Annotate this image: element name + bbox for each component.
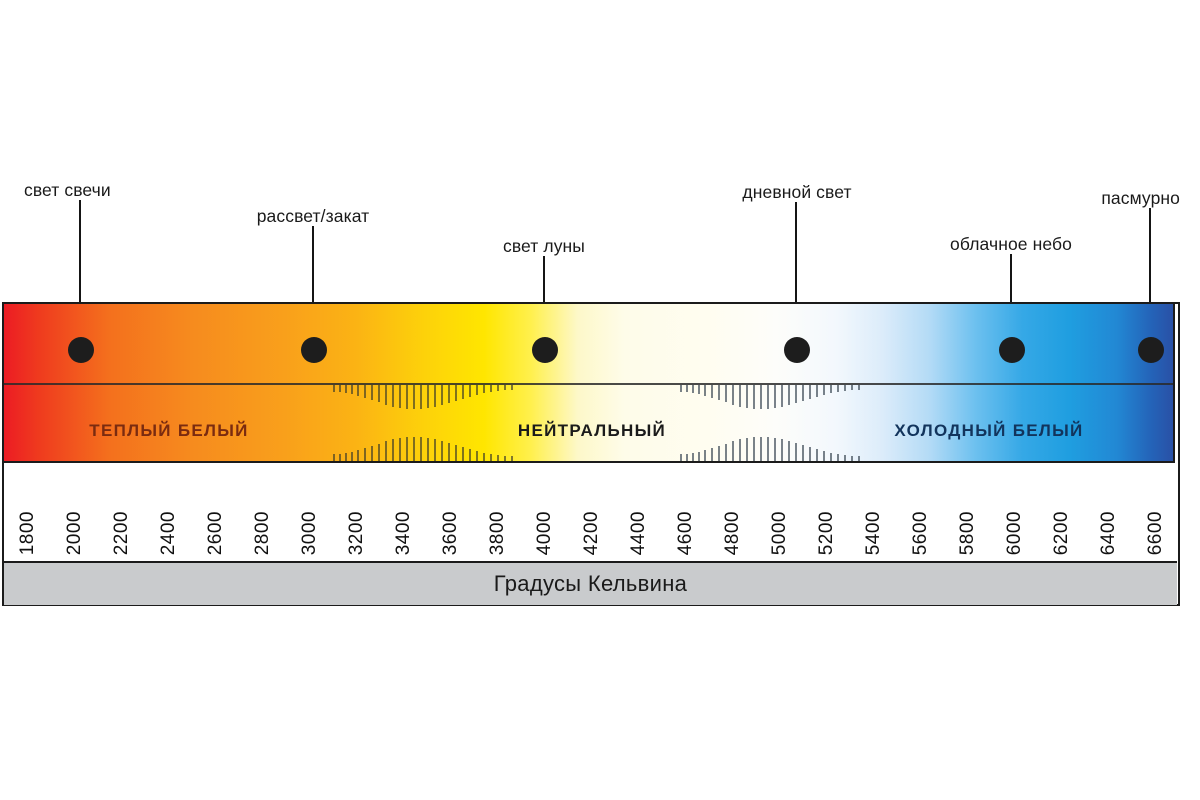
kelvin-tick-5600: 5600 (910, 511, 932, 555)
callout-sunrise-sunset: рассвет/закат (257, 208, 370, 226)
kelvin-tick-1800: 1800 (17, 511, 39, 555)
band-divider (4, 383, 1175, 385)
kelvin-tick-6200: 6200 (1051, 511, 1073, 555)
zone-label-warm-white: ТЕПЛЫЙ БЕЛЫЙ (89, 421, 248, 441)
caption-text: Градусы Кельвина (494, 571, 687, 597)
zone-label-neutral: НЕЙТРАЛЬНЫЙ (518, 421, 666, 441)
callout-moonlight: свет луны (503, 238, 585, 256)
kelvin-tick-3200: 3200 (346, 511, 368, 555)
kelvin-tick-5000: 5000 (769, 511, 791, 555)
callout-daylight: дневной свет (742, 184, 851, 202)
kelvin-tick-4400: 4400 (628, 511, 650, 555)
kelvin-tick-4000: 4000 (534, 511, 556, 555)
blend-ticks-warm-neutral (332, 304, 522, 463)
kelvin-scale-row: 1800 2000 2200 2400 2600 2800 3000 3200 … (4, 463, 1177, 561)
caption-bar: Градусы Кельвина (4, 561, 1177, 605)
kelvin-tick-2800: 2800 (252, 511, 274, 555)
blend-ticks-neutral-cool (679, 304, 869, 463)
kelvin-tick-6000: 6000 (1004, 511, 1026, 555)
callout-cloudy-sky: облачное небо (950, 236, 1072, 254)
kelvin-tick-3400: 3400 (393, 511, 415, 555)
callout-overcast: пасмурно (1101, 190, 1180, 208)
kelvin-tick-5400: 5400 (863, 511, 885, 555)
kelvin-tick-2600: 2600 (205, 511, 227, 555)
color-temperature-band: ТЕПЛЫЙ БЕЛЫЙ НЕЙТРАЛЬНЫЙ ХОЛОДНЫЙ БЕЛЫЙ (4, 304, 1175, 463)
kelvin-tick-4600: 4600 (675, 511, 697, 555)
kelvin-tick-6400: 6400 (1098, 511, 1120, 555)
chart-frame: ТЕПЛЫЙ БЕЛЫЙ НЕЙТРАЛЬНЫЙ ХОЛОДНЫЙ БЕЛЫЙ … (2, 302, 1180, 606)
marker-dot-candle-light[interactable] (68, 337, 94, 363)
band-right-rule (1173, 304, 1175, 463)
kelvin-tick-5800: 5800 (957, 511, 979, 555)
marker-dot-daylight[interactable] (784, 337, 810, 363)
marker-dot-moonlight[interactable] (532, 337, 558, 363)
kelvin-tick-6600: 6600 (1145, 511, 1167, 555)
callout-candle-light: свет свечи (24, 182, 111, 200)
kelvin-tick-2200: 2200 (111, 511, 133, 555)
marker-dot-cloudy-sky[interactable] (999, 337, 1025, 363)
zone-label-cool-white: ХОЛОДНЫЙ БЕЛЫЙ (894, 421, 1083, 441)
kelvin-tick-5200: 5200 (816, 511, 838, 555)
kelvin-tick-4800: 4800 (722, 511, 744, 555)
kelvin-tick-3000: 3000 (299, 511, 321, 555)
marker-dot-overcast[interactable] (1138, 337, 1164, 363)
kelvin-tick-3600: 3600 (440, 511, 462, 555)
kelvin-tick-2000: 2000 (64, 511, 86, 555)
color-temperature-chart: свет свечи рассвет/закат свет луны дневн… (0, 0, 1200, 800)
kelvin-tick-2400: 2400 (158, 511, 180, 555)
kelvin-tick-4200: 4200 (581, 511, 603, 555)
kelvin-tick-3800: 3800 (487, 511, 509, 555)
marker-dot-sunrise-sunset[interactable] (301, 337, 327, 363)
